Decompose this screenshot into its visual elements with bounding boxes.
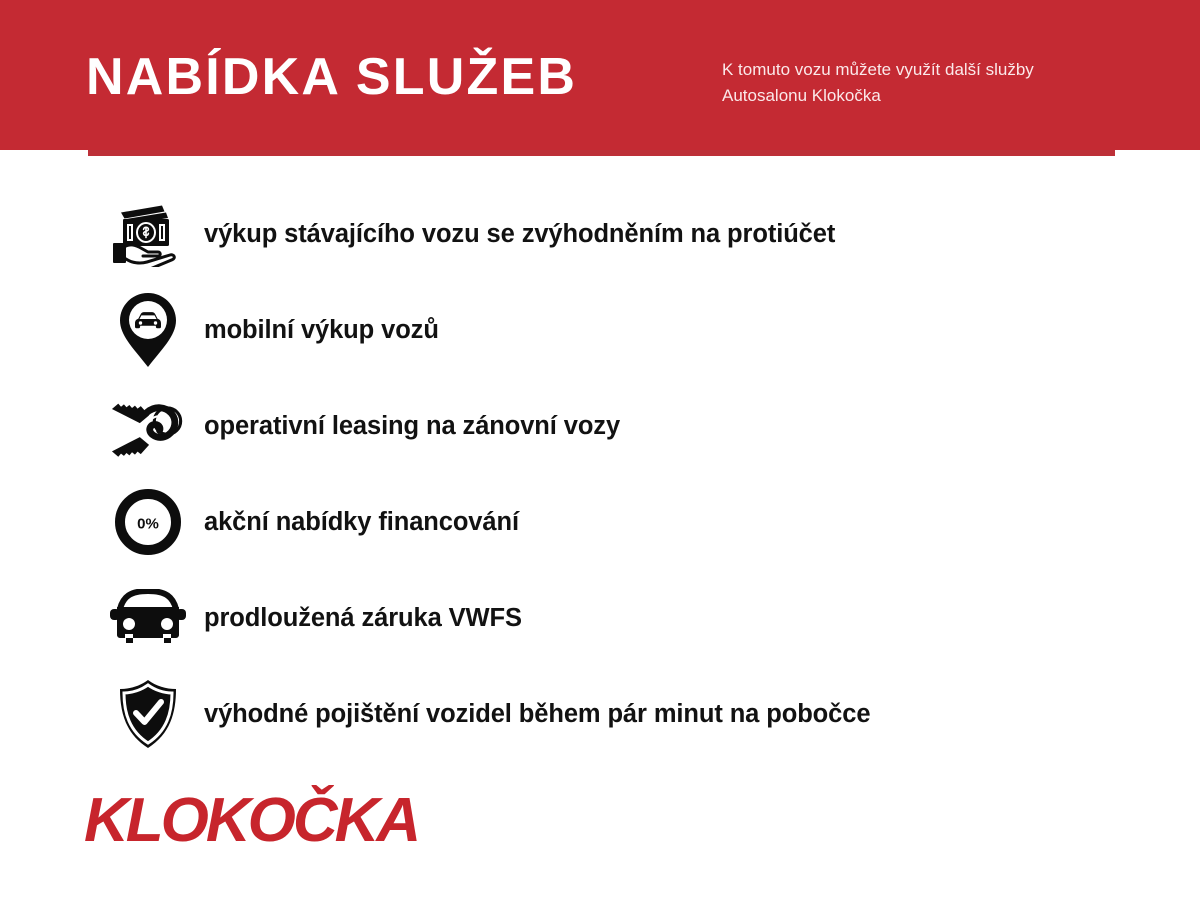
list-item: výhodné pojištění vozidel během pár minu…: [0, 666, 1200, 762]
list-item: prodloužená záruka VWFS: [0, 570, 1200, 666]
list-item-label: výkup stávajícího vozu se zvýhodněním na…: [204, 219, 835, 249]
list-item-label: operativní leasing na zánovní vozy: [204, 411, 620, 441]
list-item-label: mobilní výkup vozů: [204, 315, 439, 345]
header-subtitle-line-1: K tomuto vozu můžete využít další služby: [722, 60, 1034, 79]
shield-check-icon: [110, 676, 186, 752]
list-item: výkup stávajícího vozu se zvýhodněním na…: [0, 186, 1200, 282]
car-keys-icon: [110, 388, 186, 464]
header-divider: [88, 150, 1115, 156]
zero-percent-icon: 0%: [110, 484, 186, 560]
list-item: operativní leasing na zánovní vozy: [0, 378, 1200, 474]
list-item: 0% akční nabídky financování: [0, 474, 1200, 570]
money-hand-icon: [110, 196, 186, 272]
car-front-icon: [110, 580, 186, 656]
list-item-label: akční nabídky financování: [204, 507, 519, 537]
service-list: výkup stávajícího vozu se zvýhodněním na…: [0, 186, 1200, 762]
klokocka-logo: KLOKOČKA: [84, 785, 484, 855]
list-item: mobilní výkup vozů: [0, 282, 1200, 378]
map-pin-car-icon: [110, 292, 186, 368]
header-banner: NABÍDKA SLUŽEB K tomuto vozu můžete využ…: [0, 0, 1200, 150]
header-subtitle: K tomuto vozu můžete využít další služby…: [722, 57, 1122, 109]
page-title: NABÍDKA SLUŽEB: [86, 48, 577, 106]
list-item-label: výhodné pojištění vozidel během pár minu…: [204, 699, 870, 729]
zero-percent-label: 0%: [137, 516, 159, 533]
slide-canvas: NABÍDKA SLUŽEB K tomuto vozu můžete využ…: [0, 0, 1200, 899]
logo-text: KLOKOČKA: [84, 786, 418, 855]
header-subtitle-line-2: Autosalonu Klokočka: [722, 86, 881, 105]
list-item-label: prodloužená záruka VWFS: [204, 603, 522, 633]
